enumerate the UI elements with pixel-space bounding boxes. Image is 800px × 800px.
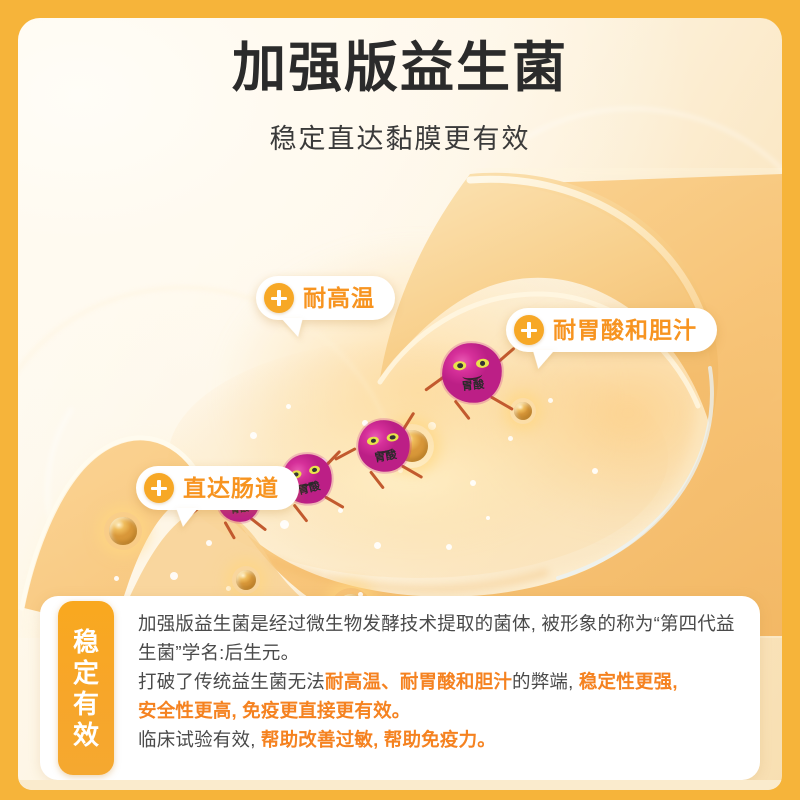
copy-run-highlight: 耐高温、耐胃酸和胆汁 xyxy=(325,671,512,692)
particle xyxy=(446,544,452,550)
poster-root: 加强版益生菌 稳定直达黏膜更有效 xyxy=(0,0,800,800)
copy-line: 加强版益生菌是经过微生物发酵技术提取的菌体, 被形象的称为“第四代益生菌”学名:… xyxy=(138,609,742,667)
germ-character: 胃酸 xyxy=(354,416,414,476)
feature-badge-label: 耐高温 xyxy=(303,287,375,310)
particle xyxy=(280,520,289,529)
capsule-particle xyxy=(232,566,260,594)
particle xyxy=(428,422,436,430)
info-copy: 加强版益生菌是经过微生物发酵技术提取的菌体, 被形象的称为“第四代益生菌”学名:… xyxy=(138,609,742,754)
copy-run: 打破了传统益生菌无法 xyxy=(138,671,325,692)
content-panel: 加强版益生菌 稳定直达黏膜更有效 xyxy=(18,18,782,790)
tag-char: 有 xyxy=(73,690,99,719)
particle xyxy=(170,572,178,580)
capsule-particle xyxy=(104,512,142,550)
particle xyxy=(114,576,119,581)
plus-icon xyxy=(264,283,294,313)
particle xyxy=(470,480,476,486)
feature-badge-acid[interactable]: 耐胃酸和胆汁 xyxy=(506,308,717,352)
tag-char: 稳 xyxy=(73,628,99,657)
tag-char: 定 xyxy=(73,659,99,688)
particle xyxy=(206,540,212,546)
particle xyxy=(286,404,291,409)
copy-run: 临床试验有效, xyxy=(138,729,261,750)
copy-run-highlight: 稳定性更强, xyxy=(579,671,678,692)
capsule-particle xyxy=(510,398,536,424)
particle xyxy=(226,586,231,591)
feature-badge-label: 直达肠道 xyxy=(183,477,279,500)
copy-run: 加强版益生菌是经过微生物发酵技术提取的菌体, 被形象的称为“第四代益生菌”学名:… xyxy=(138,613,735,663)
bottom-strip xyxy=(18,780,782,790)
feature-badge-gut[interactable]: 直达肠道 xyxy=(136,466,299,510)
copy-run: 的弊端, xyxy=(512,671,579,692)
particle xyxy=(486,516,490,520)
copy-line: 安全性更高, 免疫更直接更有效。 xyxy=(138,696,742,725)
stability-tag: 稳 定 有 效 xyxy=(58,601,114,775)
particle xyxy=(508,436,513,441)
tag-char: 效 xyxy=(73,721,99,750)
stomach-illustration: 胃酸 胃酸 胃酸 xyxy=(18,168,782,638)
particle xyxy=(250,432,257,439)
plus-icon xyxy=(144,473,174,503)
info-card: 稳 定 有 效 加强版益生菌是经过微生物发酵技术提取的菌体, 被形象的称为“第四… xyxy=(40,596,760,780)
badge-tail xyxy=(172,508,198,527)
particle xyxy=(548,398,553,403)
copy-run-highlight: 安全性更高, 免疫更直接更有效。 xyxy=(138,700,410,721)
copy-line: 临床试验有效, 帮助改善过敏, 帮助免疫力。 xyxy=(138,725,742,754)
plus-icon xyxy=(514,315,544,345)
particle xyxy=(374,542,381,549)
particle xyxy=(592,468,598,474)
stomach-shape xyxy=(18,168,782,638)
feature-badge-heat[interactable]: 耐高温 xyxy=(256,276,395,320)
feature-badge-label: 耐胃酸和胆汁 xyxy=(553,319,697,342)
germ-character: 胃酸 xyxy=(439,340,505,406)
copy-line: 打破了传统益生菌无法耐高温、耐胃酸和胆汁的弊端, 稳定性更强, xyxy=(138,667,742,696)
copy-run-highlight: 帮助改善过敏, 帮助免疫力。 xyxy=(261,729,496,750)
page-title: 加强版益生菌 xyxy=(18,40,782,97)
